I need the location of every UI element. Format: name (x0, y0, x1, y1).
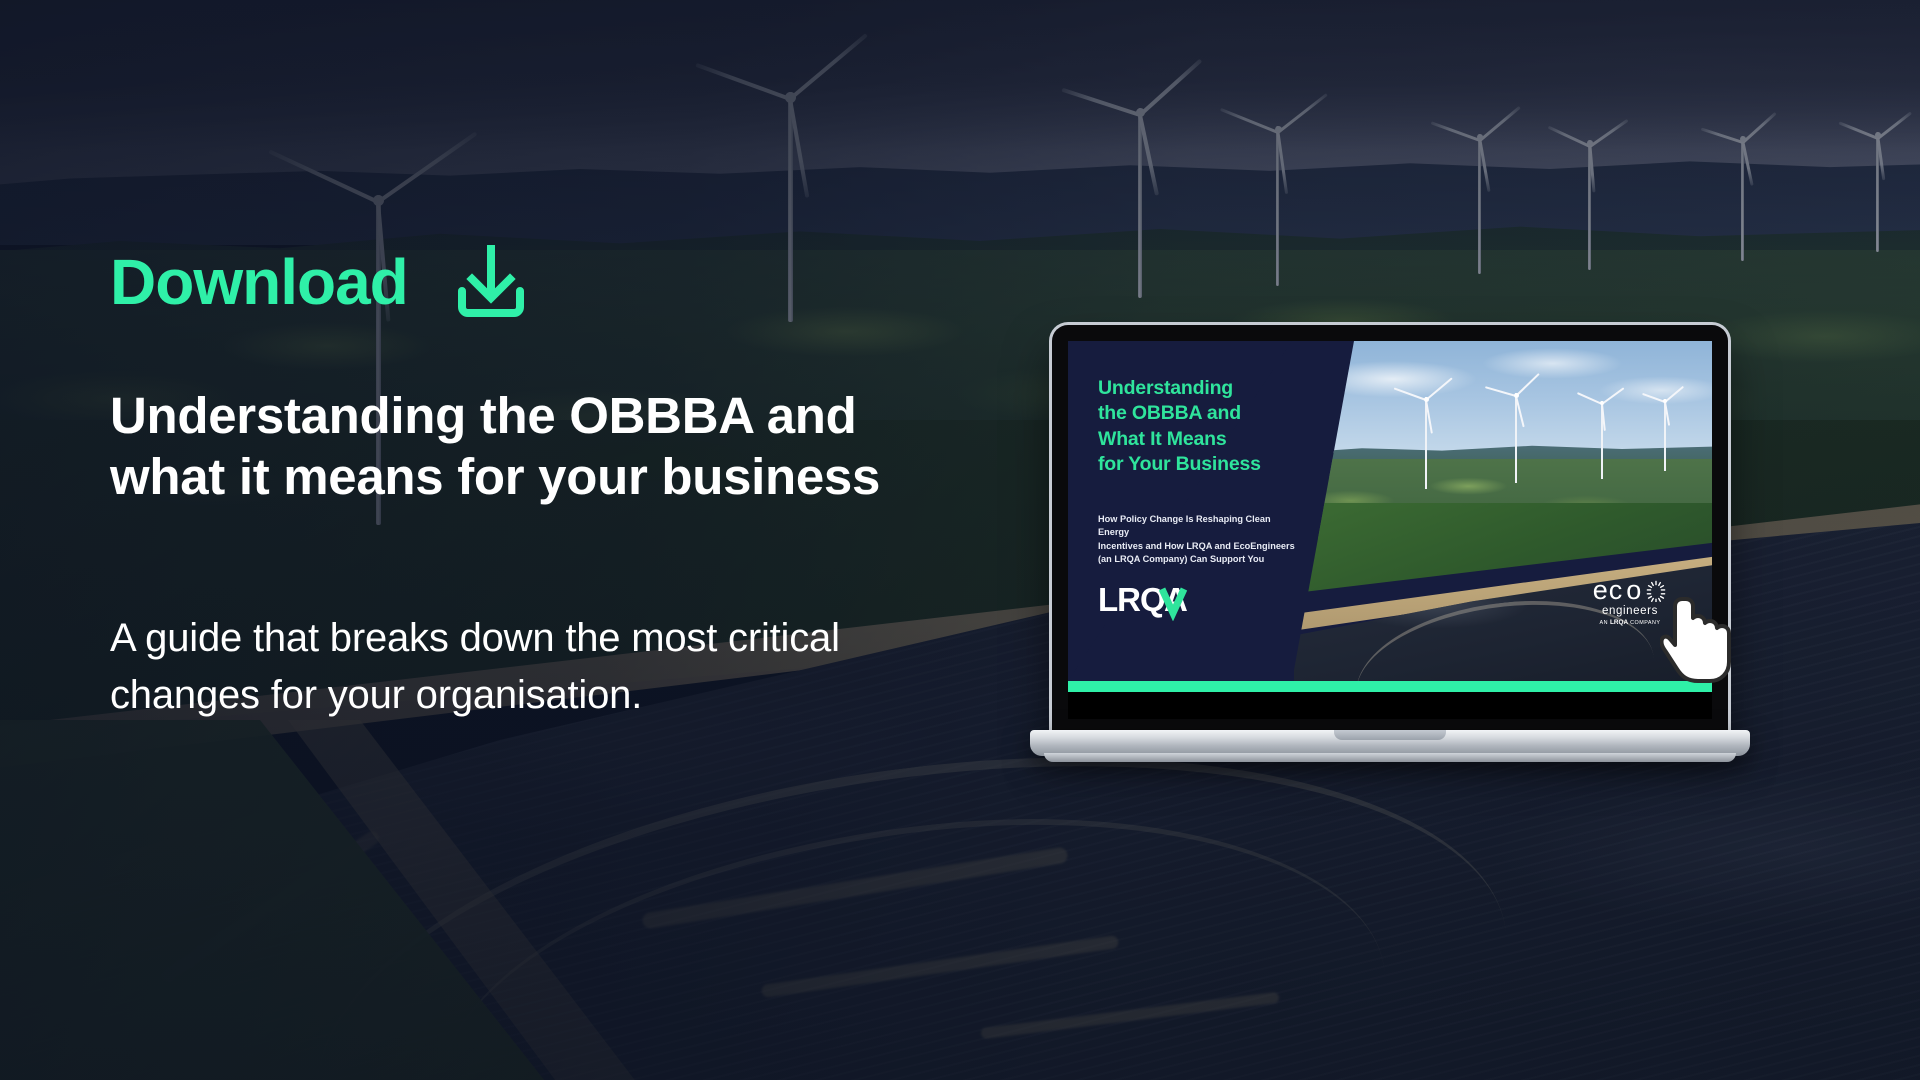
download-tray-icon (452, 243, 530, 321)
page-title: Understanding the OBBBA and what it mean… (110, 385, 1030, 507)
laptop-foot (1044, 753, 1736, 762)
eco-word-text: ec (1593, 577, 1624, 604)
download-eyebrow-row: Download (110, 243, 530, 321)
ebook-cover[interactable]: Understanding the OBBBA and What It Mean… (1068, 341, 1712, 681)
headline-line-1: Understanding the OBBBA and (110, 385, 1030, 446)
pointing-hand-cursor-icon[interactable] (1660, 593, 1732, 685)
cover-title-line-3: What It Means (1098, 427, 1308, 452)
screen-letterbox (1068, 692, 1712, 719)
svg-text:LRQ: LRQ (1098, 581, 1165, 618)
laptop-base-notch (1334, 730, 1446, 740)
cover-subtitle: How Policy Change Is Reshaping Clean Ene… (1098, 513, 1303, 566)
cover-wind-turbine (1644, 399, 1686, 471)
cover-subtitle-line-1: How Policy Change Is Reshaping Clean Ene… (1098, 513, 1303, 540)
cover-wind-turbine (1488, 393, 1544, 483)
cover-title: Understanding the OBBBA and What It Mean… (1098, 376, 1308, 477)
promo-content: Download Understanding the OBBBA and wha… (110, 0, 1030, 1080)
cover-wind-turbine (1396, 397, 1456, 489)
tagline-post: COMPANY (1630, 620, 1660, 626)
lrqa-logo: LRQ A (1098, 581, 1228, 621)
cover-title-line-2: the OBBBA and (1098, 401, 1308, 426)
cover-accent-bar (1068, 681, 1712, 692)
laptop-lid: Understanding the OBBBA and What It Mean… (1052, 325, 1728, 735)
cover-title-line-4: for Your Business (1098, 452, 1308, 477)
eco-letter-o: o (1626, 577, 1642, 604)
tagline-pre: AN (1600, 620, 1609, 626)
laptop-screen: Understanding the OBBBA and What It Mean… (1068, 341, 1712, 719)
cover-title-line-1: Understanding (1098, 376, 1308, 401)
cover-wind-turbine (1578, 401, 1626, 479)
cover-photo (1292, 341, 1712, 681)
promo-description: A guide that breaks down the most critic… (110, 610, 900, 724)
headline-line-2: what it means for your business (110, 446, 1030, 507)
download-label: Download (110, 250, 408, 314)
laptop-mockup: Understanding the OBBBA and What It Mean… (1030, 325, 1750, 785)
cover-subtitle-line-2: Incentives and How LRQA and EcoEngineers (1098, 540, 1303, 553)
cover-subtitle-line-3: (an LRQA Company) Can Support You (1098, 553, 1303, 566)
tagline-brand: LRQA (1610, 619, 1628, 626)
